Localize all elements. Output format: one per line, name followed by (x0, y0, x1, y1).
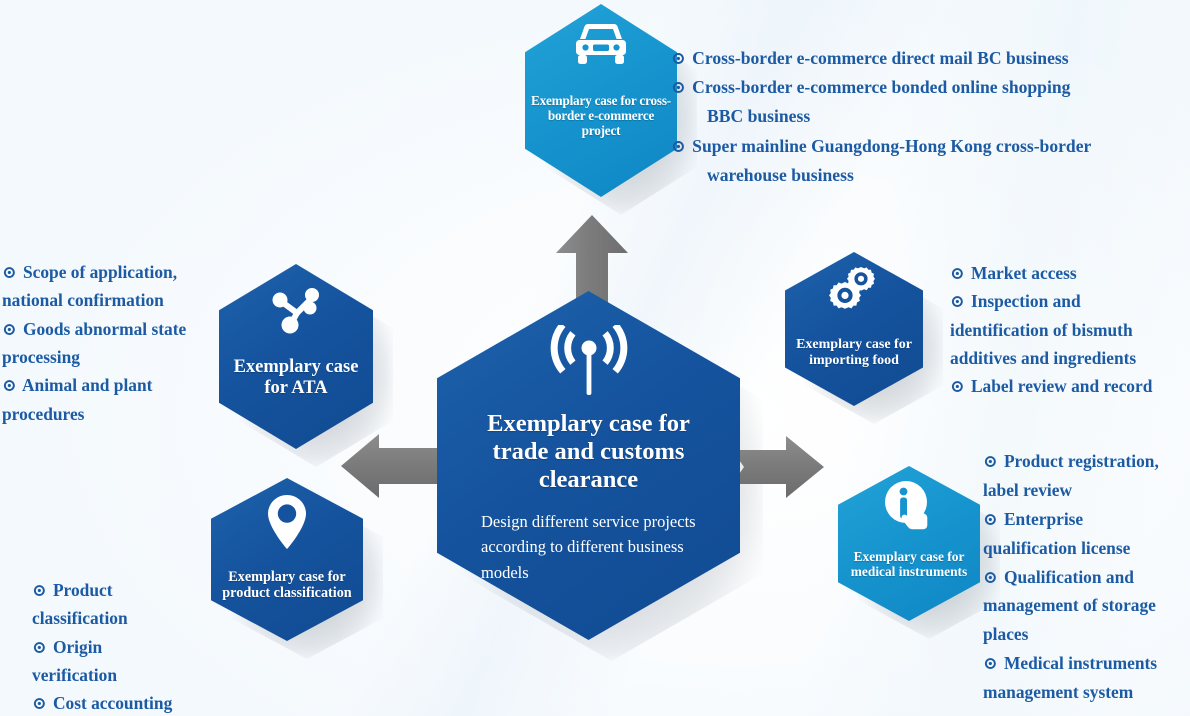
list-item-text: Product (53, 580, 113, 600)
bullet-glyph: ⊙ (32, 693, 49, 713)
list-item: ⊙ Qualification and (983, 563, 1190, 592)
list-item: ⊙ Label review and record (950, 372, 1190, 400)
list-item: ⊙ Super mainline Guangdong-Hong Kong cro… (671, 132, 1183, 161)
list-item: ⊙ Product (32, 576, 232, 604)
bullet-glyph: ⊙ (32, 580, 49, 600)
list-item-text: Goods abnormal state (23, 319, 186, 339)
center-subtitle: Design different service projects accord… (481, 509, 696, 586)
list-item-text: Market access (971, 263, 1077, 283)
list-item-text: Animal and plant (22, 375, 152, 395)
list-item-continuation: procedures (2, 400, 224, 428)
ecommerce-title: Exemplary case for cross-border e-commer… (529, 93, 673, 139)
list-item-text: Product registration, (1004, 451, 1159, 471)
list-item: ⊙ Cross-border e-commerce bonded online … (671, 73, 1183, 102)
bullet-glyph: ⊙ (671, 48, 688, 68)
list-item-text: Origin (53, 637, 102, 657)
ata-title: Exemplary case for ATA (225, 357, 367, 400)
network-share-nodes-icon (267, 284, 325, 339)
product-classification-title: Exemplary case for product classificatio… (219, 569, 355, 602)
bullet-glyph: ⊙ (950, 263, 967, 283)
list-item-continuation: management system (983, 678, 1190, 707)
bullets-importing-food: ⊙ Market access ⊙ Inspection and identif… (950, 259, 1190, 401)
bullets-ecommerce: ⊙ Cross-border e-commerce direct mail BC… (671, 44, 1183, 190)
bullets-medical-instruments: ⊙ Product registration, label review ⊙ E… (983, 447, 1190, 707)
list-item: ⊙ Enterprise (983, 505, 1190, 534)
list-item-continuation: classification (32, 604, 232, 632)
list-item: ⊙ Market access (950, 259, 1190, 287)
node-importing-food[interactable]: Exemplary case for importing food (785, 252, 923, 406)
list-item-continuation: verification (32, 661, 232, 689)
vehicle-car-icon (574, 22, 628, 71)
medical-instruments-title: Exemplary case for medical instruments (844, 549, 974, 580)
list-item-text: Label review and record (971, 376, 1152, 396)
center-title: Exemplary case for trade and customs cle… (481, 410, 696, 495)
bullet-glyph: ⊙ (2, 319, 19, 339)
arrow-right-icon (732, 436, 824, 498)
list-item: ⊙ Cross-border e-commerce direct mail BC… (671, 44, 1183, 73)
gears-cogs-icon (826, 266, 882, 325)
list-item-continuation: processing (2, 343, 224, 371)
bullets-product-classification: ⊙ Product classification ⊙ Origin verifi… (32, 576, 232, 716)
list-item-continuation: national confirmation (2, 286, 224, 314)
bullet-glyph: ⊙ (983, 509, 1000, 529)
node-ata[interactable]: Exemplary case for ATA (219, 264, 373, 449)
bullet-glyph: ⊙ (950, 376, 967, 396)
list-item-text: Inspection and (971, 291, 1081, 311)
list-item-continuation: label review (983, 476, 1190, 505)
list-item-continuation: qualification license (983, 534, 1190, 563)
bullet-glyph: ⊙ (983, 567, 1000, 587)
list-item-text: Qualification and (1004, 567, 1134, 587)
arrow-left-icon (341, 434, 447, 498)
node-cross-border-ecommerce[interactable]: Exemplary case for cross-border e-commer… (525, 4, 677, 197)
info-hand-click-icon (882, 480, 936, 537)
list-item-text: Cross-border e-commerce bonded online sh… (692, 77, 1070, 97)
node-center-trade-customs[interactable]: Exemplary case for trade and customs cle… (437, 291, 740, 640)
list-item-continuation: BBC business (671, 102, 1183, 131)
list-item: ⊙ Cost accounting (32, 689, 232, 716)
bullet-glyph: ⊙ (983, 451, 1000, 471)
bullet-glyph: ⊙ (2, 375, 19, 395)
list-item: ⊙ Product registration, (983, 447, 1190, 476)
list-item-continuation: management of storage places (983, 591, 1190, 649)
list-item-text: Enterprise (1004, 509, 1083, 529)
list-item-text: Cross-border e-commerce direct mail BC b… (692, 48, 1068, 68)
list-item: ⊙ Scope of application, (2, 258, 224, 286)
list-item: ⊙ Goods abnormal state (2, 315, 224, 343)
list-item-text: Scope of application, (23, 262, 177, 282)
node-medical-instruments[interactable]: Exemplary case for medical instruments (838, 466, 980, 621)
bullet-glyph: ⊙ (950, 291, 967, 311)
bullet-glyph: ⊙ (983, 653, 1000, 673)
bullet-glyph: ⊙ (671, 77, 688, 97)
list-item: ⊙ Origin (32, 633, 232, 661)
list-item-continuation: warehouse business (671, 161, 1183, 190)
list-item: ⊙ Inspection and (950, 287, 1190, 315)
bullet-glyph: ⊙ (671, 136, 688, 156)
bullet-glyph: ⊙ (32, 637, 49, 657)
list-item-text: Cost accounting (53, 693, 172, 713)
location-pin-icon (266, 494, 308, 555)
list-item-continuation: identification of bismuth additives and … (950, 316, 1190, 373)
list-item: ⊙ Animal and plant (2, 371, 224, 399)
bullets-ata: ⊙ Scope of application, national confirm… (2, 258, 224, 428)
bullet-glyph: ⊙ (2, 262, 19, 282)
importing-food-title: Exemplary case for importing food (791, 337, 917, 369)
diagram-canvas: Exemplary case for trade and customs cle… (0, 0, 1190, 716)
node-product-classification[interactable]: Exemplary case for product classificatio… (211, 478, 363, 641)
list-item: ⊙ Medical instruments (983, 649, 1190, 678)
list-item-text: Medical instruments (1004, 653, 1157, 673)
list-item-text: Super mainline Guangdong-Hong Kong cross… (692, 136, 1091, 156)
broadcast-signal-icon (550, 325, 628, 404)
